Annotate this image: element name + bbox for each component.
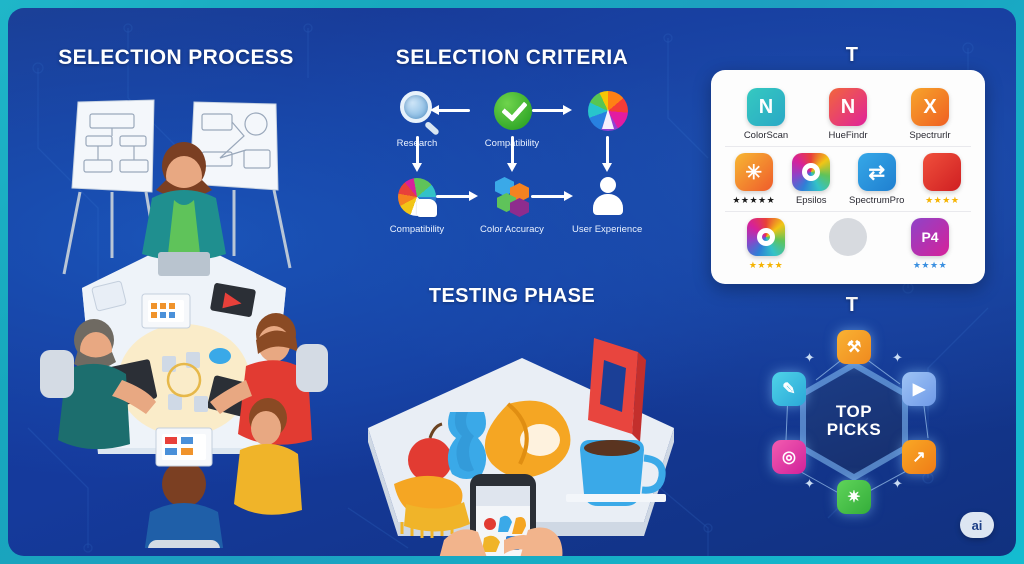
- heading-selection-criteria: SELECTION CRITERIA: [378, 46, 646, 70]
- p4-app-icon: P4: [911, 218, 949, 256]
- criteria-node-compatibility-bottom[interactable]: Compatibility: [382, 174, 452, 235]
- rainbow-app-icon: [747, 218, 785, 256]
- sparkle-icon: ✦: [892, 350, 903, 366]
- top-picks-line2: PICKS: [827, 421, 881, 439]
- criteria-label: Compatibility: [382, 225, 452, 235]
- epsilos-app-icon: [792, 153, 830, 191]
- trend-icon[interactable]: ↗: [902, 440, 936, 474]
- app-item[interactable]: Epsilos: [783, 153, 839, 206]
- rating-stars: ★★★★★: [726, 195, 782, 206]
- arrow-compat-down: [511, 136, 514, 164]
- arrow-hex-to-user: [531, 195, 565, 198]
- app-name: HueFindr: [811, 130, 885, 141]
- heading-testing-phase: TESTING PHASE: [378, 285, 646, 308]
- user-avatar-icon: [584, 174, 630, 220]
- placeholder-circle-icon: [829, 218, 867, 256]
- infographic-frame: SELECTION PROCESS SELECTION CRITERIA TES…: [8, 8, 1016, 556]
- app-name: ColorScan: [729, 130, 803, 141]
- rating-stars: ★★★★: [902, 260, 958, 271]
- app-name: Epsilos: [783, 195, 839, 206]
- huefindr-app-icon: N: [829, 88, 867, 126]
- color-swatch-icon: [394, 174, 440, 220]
- tools-icon[interactable]: ⚒: [837, 330, 871, 364]
- heading-top-picks: T: [778, 294, 926, 317]
- app-item[interactable]: ★★★★: [914, 153, 970, 206]
- app-row: ✳ ★★★★★ Epsilos ⇄ SpectrumPro ★★★★: [725, 147, 971, 212]
- app-list-panel[interactable]: N ColorScan N HueFindr X Spectrurlr ✳ ★★…: [711, 70, 985, 284]
- target-icon[interactable]: ◎: [772, 440, 806, 474]
- hexagon-cluster-icon: [489, 174, 535, 220]
- spectrurlr-app-icon: X: [911, 88, 949, 126]
- sparkle-icon: ✦: [892, 476, 903, 492]
- criteria-node-color-wheel[interactable]: [572, 88, 642, 139]
- play-icon[interactable]: ▶: [902, 372, 936, 406]
- top-picks-diagram: ✦ ✦ ✦ ✦ TOP PICKS ⚒ ▶ ↗ ✷ ◎ ✎: [760, 328, 948, 516]
- app-item-placeholder: [828, 218, 868, 260]
- app-row: ★★★★ P4 ★★★★: [725, 212, 971, 276]
- top-picks-line1: TOP: [836, 403, 872, 421]
- illustration-testing-phase: [344, 308, 692, 556]
- app-item[interactable]: N HueFindr: [811, 88, 885, 141]
- red-app-icon: [923, 153, 961, 191]
- sparkle-icon: ✦: [804, 476, 815, 492]
- spectrumpro-app-icon: ⇄: [858, 153, 896, 191]
- criteria-label: Color Accuracy: [477, 225, 547, 235]
- app-item[interactable]: P4 ★★★★: [902, 218, 958, 271]
- green-check-icon: [489, 88, 535, 134]
- colorscan-app-icon: N: [747, 88, 785, 126]
- app-item[interactable]: N ColorScan: [729, 88, 803, 141]
- gear-icon[interactable]: ✷: [837, 480, 871, 514]
- app-item[interactable]: X Spectrurlr: [893, 88, 967, 141]
- heading-apps-panel: T: [768, 44, 936, 67]
- criteria-node-user-experience[interactable]: User Experience: [572, 174, 642, 235]
- rating-stars: ★★★★: [914, 195, 970, 206]
- illustration-selection-process: [34, 88, 334, 548]
- arrow-wheel-down: [606, 136, 609, 164]
- color-wheel-icon: [584, 88, 630, 134]
- app-item[interactable]: ★★★★: [738, 218, 794, 271]
- arrow-research-down: [416, 136, 419, 164]
- app-item[interactable]: ⇄ SpectrumPro: [841, 153, 913, 206]
- heading-selection-process: SELECTION PROCESS: [40, 46, 312, 70]
- arrow-compat-to-research: [438, 109, 470, 112]
- pen-icon[interactable]: ✎: [772, 372, 806, 406]
- arrow-compat-to-wheel: [532, 109, 564, 112]
- app-name: SpectrumPro: [841, 195, 913, 206]
- star-app-icon: ✳: [735, 153, 773, 191]
- app-row: N ColorScan N HueFindr X Spectrurlr: [725, 82, 971, 147]
- criteria-node-color-accuracy[interactable]: Color Accuracy: [477, 174, 547, 235]
- criteria-label: User Experience: [572, 225, 642, 235]
- ai-logo-badge: ai: [960, 512, 994, 538]
- arrow-swatch-to-hex: [436, 195, 470, 198]
- rating-stars: ★★★★: [738, 260, 794, 271]
- app-name: Spectrurlr: [893, 130, 967, 141]
- criteria-diagram: Research Compatibility Compatibility Col…: [360, 88, 660, 258]
- sparkle-icon: ✦: [804, 350, 815, 366]
- app-item[interactable]: ✳ ★★★★★: [726, 153, 782, 206]
